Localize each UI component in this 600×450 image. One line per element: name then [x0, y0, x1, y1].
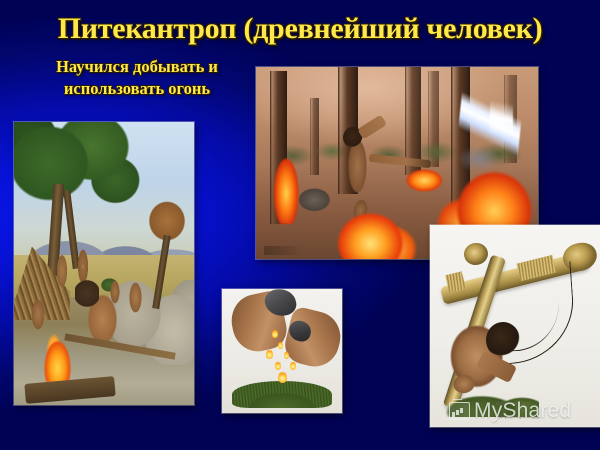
- hominid-figure: [126, 275, 146, 320]
- flame-left: [267, 144, 304, 225]
- image-flint-sparks: [222, 289, 342, 413]
- hominid-leg: [445, 368, 483, 401]
- camp-scene: [14, 122, 194, 405]
- campfire: [36, 320, 79, 382]
- bow-drill-scene: Добывание огня трения, набегая в деревян…: [430, 225, 600, 427]
- hominid-head-main: [75, 275, 98, 312]
- flame-center: [324, 198, 426, 259]
- caption-line-2: трения, набегая: [496, 407, 597, 414]
- slide-subtitle: Научился добывать и использовать огонь: [22, 56, 252, 100]
- caption-line-1: Добывание огня: [496, 400, 597, 407]
- main-tree-canopy: [14, 122, 147, 230]
- presentation-slide: Питекантроп (древнейший человек) Научилс…: [0, 0, 600, 450]
- tinder-grass: [232, 381, 333, 408]
- artist-signature: [264, 246, 303, 256]
- caption-line-3: в деревянную опору.: [496, 414, 597, 421]
- bow-drill-caption: Добывание огня трения, набегая в деревян…: [496, 400, 597, 421]
- page-title: Питекантроп (древнейший человек): [0, 12, 600, 46]
- flint-scene: [222, 289, 342, 413]
- spark: [275, 361, 281, 370]
- image-prehistoric-camp: [14, 122, 194, 405]
- image-bow-drill: Добывание огня трения, набегая в деревян…: [430, 225, 600, 427]
- hominid-figure: [54, 247, 70, 295]
